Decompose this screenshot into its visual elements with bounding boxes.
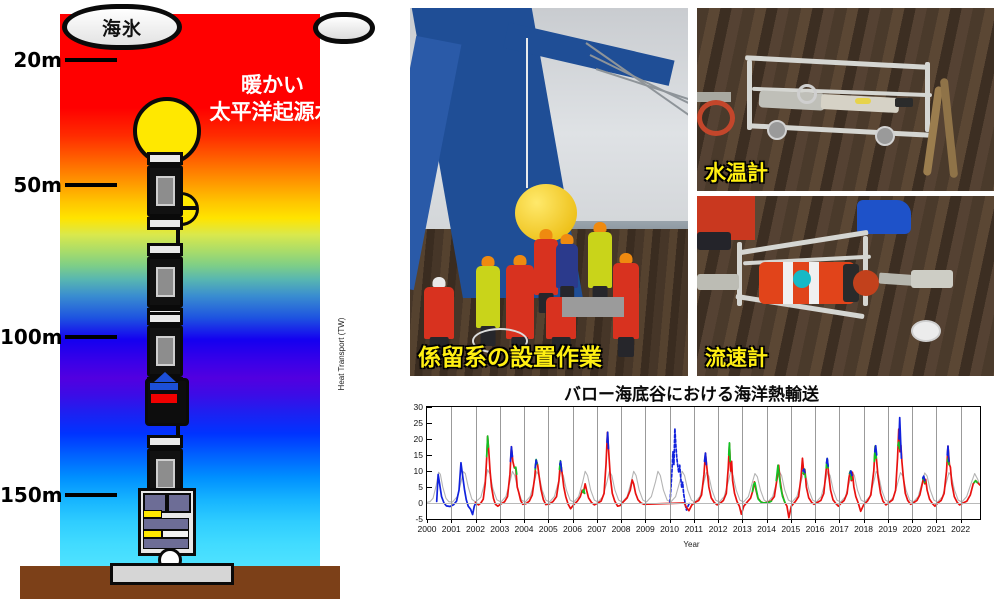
acoustic-doppler-instrument	[145, 378, 189, 426]
chart-y-tick-mark	[427, 439, 432, 440]
red-shackle-ring	[697, 100, 735, 136]
chart-x-gridline	[791, 407, 792, 519]
chart-y-tick-label: 25	[414, 418, 423, 428]
helmet-icon	[540, 229, 553, 239]
sea-ice-floe-labeled: 海氷	[62, 4, 182, 50]
frame-foot-left	[767, 120, 787, 140]
chart-x-tick-label: 2004	[515, 524, 534, 534]
chart-x-tick-mark	[597, 519, 598, 523]
crew-member	[424, 287, 454, 339]
release-band-1	[143, 518, 189, 530]
chart-x-tick-label: 2016	[806, 524, 825, 534]
photo-caption-thermometer: 水温計	[705, 157, 768, 187]
chart-y-tick-label: 5	[418, 482, 423, 492]
chart-x-tick-mark	[670, 519, 671, 523]
chart-x-tick-mark	[815, 519, 816, 523]
chart-x-tick-label: 2000	[418, 524, 437, 534]
depth-leader-line	[65, 493, 117, 497]
chart-x-gridline	[864, 407, 865, 519]
shackle-plate-right	[911, 270, 953, 288]
chart-x-tick-mark	[621, 519, 622, 523]
photo-caption-current-meter: 流速計	[705, 342, 768, 372]
instrument-package-2	[147, 243, 183, 321]
chart-x-tick-label: 2018	[854, 524, 873, 534]
photo-mooring-deployment: 係留系の設置作業	[410, 8, 688, 376]
chart-x-tick-mark	[864, 519, 865, 523]
chart-x-tick-label: 2001	[442, 524, 461, 534]
chart-x-gridline	[888, 407, 889, 519]
depth-leader-line	[65, 335, 117, 339]
chart-x-tick-label: 2009	[636, 524, 655, 534]
depth-tick-100m: 100m	[0, 325, 117, 349]
depth-label: 150m	[0, 483, 62, 507]
depth-tick-50m: 50m	[0, 173, 117, 197]
chart-y-tick-mark	[427, 487, 432, 488]
instrument-blue-band	[150, 383, 178, 390]
crew-blue-shoe	[857, 200, 911, 234]
chart-y-tick-mark	[427, 471, 432, 472]
chart-x-tick-mark	[694, 519, 695, 523]
crew-member	[588, 232, 612, 288]
chart-x-gridline	[524, 407, 525, 519]
chart-x-gridline	[621, 407, 622, 519]
chart-x-tick-mark	[573, 519, 574, 523]
helmet-icon	[620, 253, 633, 263]
chart-y-tick-label: -5	[415, 514, 423, 524]
chart-x-tick-label: 2014	[757, 524, 776, 534]
depth-label: 50m	[0, 173, 62, 197]
chart-x-gridline	[936, 407, 937, 519]
instrument-cap	[147, 312, 183, 325]
warm-water-line-1: 暖かい	[180, 72, 365, 99]
shackle-plate-left	[697, 274, 739, 290]
chart-series-line	[476, 429, 980, 518]
chart-x-tick-label: 2011	[685, 524, 703, 534]
instrument-cap	[147, 435, 183, 448]
mount-clamp-ring	[797, 84, 817, 104]
sea-ice-floe-small	[313, 12, 375, 44]
chart-x-tick-label: 2019	[878, 524, 897, 534]
chart-x-tick-mark	[791, 519, 792, 523]
chart-x-tick-mark	[839, 519, 840, 523]
sensor-head-icon	[793, 270, 811, 288]
release-white-band	[162, 530, 189, 538]
instrument-body	[147, 325, 183, 377]
chart-x-tick-label: 2012	[709, 524, 728, 534]
chart-x-gridline	[573, 407, 574, 519]
depth-label: 20m	[0, 48, 62, 72]
helmet-icon	[514, 255, 527, 265]
chart-x-tick-label: 2015	[781, 524, 800, 534]
chart-x-tick-mark	[476, 519, 477, 523]
chart-series-line	[437, 463, 476, 515]
chart-series-line	[515, 467, 517, 474]
housing-strap-1	[783, 262, 793, 304]
instrument-cap	[147, 217, 183, 230]
chart-title: バロー海底谷における海洋熱輸送	[383, 380, 1000, 405]
chart-x-gridline	[694, 407, 695, 519]
lift-wire	[526, 38, 528, 188]
chart-x-gridline	[815, 407, 816, 519]
chart-x-axis-label: Year	[383, 540, 1000, 549]
heat-transport-chart-panel: バロー海底谷における海洋熱輸送 Heat Transport (TW) Year…	[383, 380, 1000, 580]
instrument-body	[147, 165, 183, 217]
instrument-red-band	[151, 394, 177, 403]
crew-member	[534, 239, 558, 295]
chart-x-tick-mark	[961, 519, 962, 523]
chart-x-gridline	[912, 407, 913, 519]
instrument-cap	[147, 152, 183, 165]
chart-x-gridline	[670, 407, 671, 519]
chart-x-tick-mark	[742, 519, 743, 523]
chart-x-tick-label: 2013	[733, 524, 752, 534]
transducer-cone-icon	[154, 372, 176, 382]
spare-washer	[911, 320, 941, 342]
chart-x-tick-label: 2007	[587, 524, 606, 534]
depth-label: 100m	[0, 325, 62, 349]
crew-member	[556, 244, 578, 288]
chart-x-tick-label: 2008	[612, 524, 631, 534]
chart-x-tick-mark	[548, 519, 549, 523]
chart-x-tick-mark	[888, 519, 889, 523]
chart-x-tick-label: 2002	[466, 524, 485, 534]
photo-caption-deployment: 係留系の設置作業	[418, 338, 602, 372]
chart-y-tick-label: 10	[414, 466, 423, 476]
chart-plot-area: -505101520253020002001200220032004200520…	[426, 406, 981, 520]
photo-current-meter: 流速計	[697, 196, 994, 376]
warm-water-annotation: 暖かい 太平洋起源水	[180, 72, 365, 127]
release-band-2	[143, 538, 189, 549]
chart-x-tick-mark	[500, 519, 501, 523]
chart-x-tick-label: 2003	[490, 524, 509, 534]
release-yellow-band-2	[143, 530, 162, 538]
chart-y-tick-label: 15	[414, 450, 423, 460]
frame-post-left	[747, 60, 752, 130]
chart-y-tick-mark	[427, 407, 432, 408]
chart-y-axis-label: Heat Transport (TW)	[337, 294, 346, 414]
chart-series-line	[670, 428, 689, 510]
depth-leader-line	[65, 183, 117, 187]
release-yellow-band-1	[143, 510, 162, 518]
helmet-icon	[482, 256, 495, 266]
chart-y-tick-mark	[427, 455, 432, 456]
mooring-schematic-panel: 海氷 暖かい 太平洋起源水 20m 50m 100m 150m	[0, 0, 380, 599]
chart-series-line	[974, 481, 977, 483]
helmet-icon	[561, 234, 574, 244]
chart-x-gridline	[767, 407, 768, 519]
chart-x-tick-mark	[524, 519, 525, 523]
chart-x-gridline	[597, 407, 598, 519]
chart-x-tick-mark	[767, 519, 768, 523]
instrument-body	[147, 256, 183, 308]
depth-tick-150m: 150m	[0, 483, 117, 507]
chart-y-tick-label: 0	[418, 498, 423, 508]
deck-equipment-crate	[562, 297, 624, 317]
anchor-weight	[110, 563, 234, 585]
chart-zero-line	[427, 503, 980, 504]
sensor-label-sticker	[855, 98, 871, 104]
instrument-package-1	[147, 152, 183, 230]
warm-water-line-2: 太平洋起源水	[180, 99, 365, 126]
chart-x-tick-mark	[645, 519, 646, 523]
frame-foot-right	[875, 126, 895, 146]
chart-x-gridline	[839, 407, 840, 519]
crew-boot-left	[697, 232, 731, 250]
chart-x-gridline	[961, 407, 962, 519]
chart-x-gridline	[476, 407, 477, 519]
chart-x-tick-mark	[912, 519, 913, 523]
chart-x-tick-label: 2005	[539, 524, 558, 534]
chart-x-gridline	[500, 407, 501, 519]
chart-x-tick-mark	[451, 519, 452, 523]
chart-y-tick-label: 30	[414, 402, 423, 412]
chart-y-tick-mark	[427, 423, 432, 424]
chart-x-gridline	[718, 407, 719, 519]
transducer-face	[853, 270, 879, 296]
sensor-endcap	[895, 98, 913, 107]
instrument-cap	[147, 243, 183, 256]
chart-x-tick-label: 2006	[563, 524, 582, 534]
chart-x-tick-label: 2021	[927, 524, 946, 534]
housing-strap-2	[809, 262, 819, 304]
sea-ice-label: 海氷	[102, 14, 142, 41]
chart-x-tick-label: 2022	[951, 524, 970, 534]
chart-x-gridline	[645, 407, 646, 519]
acoustic-release-battery-stack	[138, 488, 196, 556]
chart-y-tick-label: 20	[414, 434, 423, 444]
release-module-right	[167, 493, 191, 513]
chart-x-gridline	[742, 407, 743, 519]
crew-member	[476, 266, 500, 328]
chart-x-tick-mark	[427, 519, 428, 523]
chart-x-tick-mark	[936, 519, 937, 523]
chart-x-tick-label: 2020	[903, 524, 922, 534]
depth-leader-line	[65, 58, 117, 62]
depth-tick-20m: 20m	[0, 48, 117, 72]
helmet-icon	[433, 277, 446, 287]
chart-x-gridline	[451, 407, 452, 519]
chart-x-tick-label: 2017	[830, 524, 849, 534]
photo-water-thermometer: 水温計	[697, 8, 994, 191]
chart-x-tick-mark	[718, 519, 719, 523]
helmet-icon	[594, 222, 607, 232]
chart-series-line	[583, 490, 585, 494]
chart-x-tick-label: 2010	[660, 524, 679, 534]
chart-x-gridline	[548, 407, 549, 519]
